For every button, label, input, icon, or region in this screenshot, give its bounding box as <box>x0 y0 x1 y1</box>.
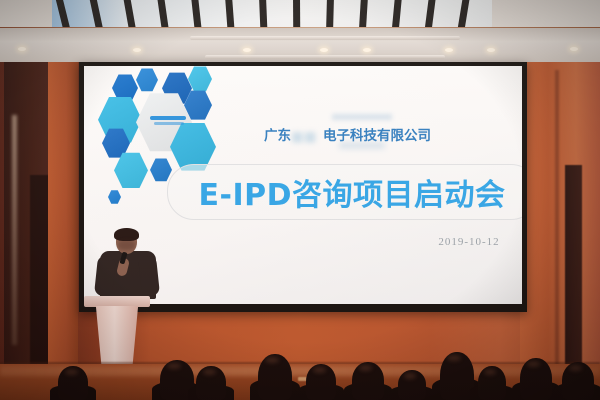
presenter-face-shadow <box>118 240 135 250</box>
company-suffix: 电子科技有限公司 <box>323 128 431 144</box>
slide-company-name: 广东■■电子科技有限公司 <box>264 124 514 145</box>
ceiling-downlight <box>445 48 453 52</box>
audience-hair-highlight <box>65 369 78 375</box>
audience-hair-highlight <box>569 365 582 371</box>
wall-speaker-column <box>565 165 582 380</box>
floor-sheen <box>0 366 600 376</box>
right-wall-edge <box>555 70 559 380</box>
logo-center-bar <box>150 116 186 120</box>
ceiling-downlight <box>133 48 141 52</box>
logo-center-bar-shadow <box>154 122 184 125</box>
logo-hexagon <box>150 158 172 182</box>
audience-hair-highlight <box>313 367 326 373</box>
ceiling-downlight <box>570 47 578 51</box>
presentation-photo: 广东■■电子科技有限公司 E-IPD咨询项目启动会 2019-10-12 <box>0 0 600 400</box>
audience-hair-highlight <box>359 365 372 371</box>
logo-hexagon <box>136 68 158 92</box>
slide-title: E-IPD咨询项目启动会 <box>170 170 522 214</box>
slide-date: 2019-10-12 <box>414 236 522 248</box>
audience-hair-highlight <box>203 369 216 375</box>
company-prefix: 广东 <box>264 128 291 144</box>
company-redacted: ■■ <box>291 129 323 145</box>
ceiling-downlight <box>487 48 495 52</box>
ceiling-vent-upper <box>190 36 460 40</box>
ceiling-downlight <box>363 48 371 52</box>
ceiling-downlight <box>18 47 26 51</box>
ceiling-downlight <box>320 48 328 52</box>
right-wall-panel <box>520 55 600 380</box>
ceiling-downlight <box>243 48 251 52</box>
doorway-light-strip <box>12 115 17 345</box>
logo-hexagon <box>108 190 121 204</box>
audience-hair-highlight <box>527 361 540 367</box>
presenter-shoulder-right <box>138 255 160 297</box>
company-ghost-top <box>332 114 392 120</box>
ceiling-vent-lower <box>205 55 445 59</box>
left-pillar <box>48 58 78 380</box>
podium-top <box>84 296 150 307</box>
